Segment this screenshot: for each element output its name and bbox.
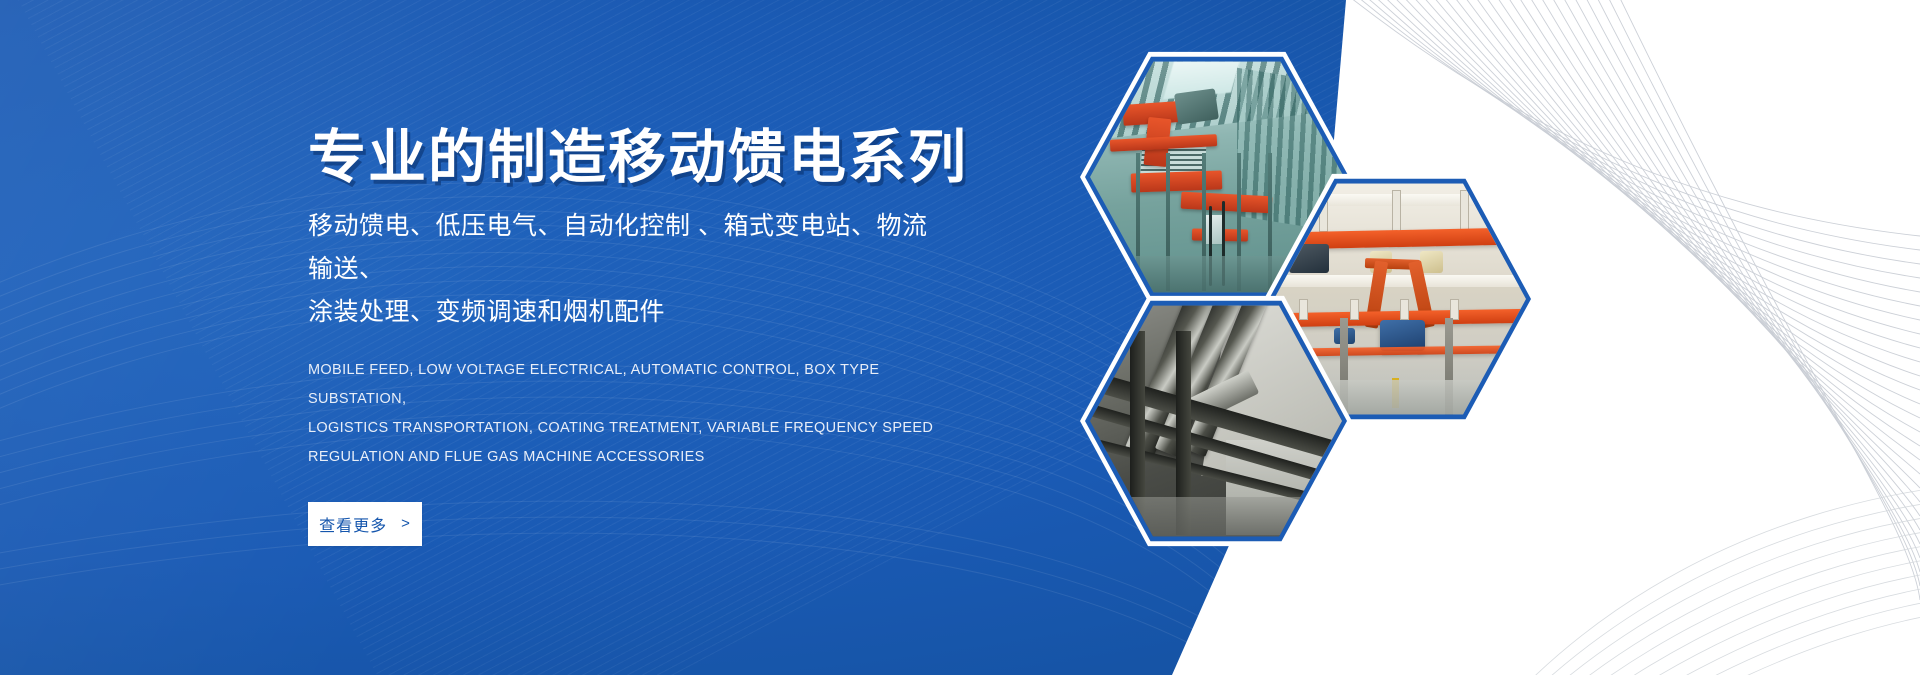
view-more-label: 查看更多 xyxy=(319,512,387,536)
hero-banner: 专业的制造移动馈电系列 移动馈电、低压电气、自动化控制 、箱式变电站、物流输送、… xyxy=(0,0,1920,675)
hexagon-photo-cluster xyxy=(1060,0,1700,675)
chevron-right-icon: > xyxy=(401,516,411,531)
subtitle-line-2: 涂装处理、变频调速和烟机配件 xyxy=(308,291,948,334)
english-line-3: REGULATION AND FLUE GAS MACHINE ACCESSOR… xyxy=(308,443,948,472)
photo-busbar-cable-tray xyxy=(1090,302,1342,540)
english-line-2: LOGISTICS TRANSPORTATION, COATING TREATM… xyxy=(308,414,948,443)
english-line-1: MOBILE FEED, LOW VOLTAGE ELECTRICAL, AUT… xyxy=(308,356,948,414)
banner-subtitle: 移动馈电、低压电气、自动化控制 、箱式变电站、物流输送、 涂装处理、变频调速和烟… xyxy=(308,205,948,334)
view-more-button[interactable]: 查看更多 > xyxy=(308,502,422,546)
hexagon-image-clip xyxy=(1090,302,1342,540)
banner-content: 专业的制造移动馈电系列 移动馈电、低压电气、自动化控制 、箱式变电站、物流输送、… xyxy=(308,126,948,546)
banner-english-description: MOBILE FEED, LOW VOLTAGE ELECTRICAL, AUT… xyxy=(308,356,948,472)
subtitle-line-1: 移动馈电、低压电气、自动化控制 、箱式变电站、物流输送、 xyxy=(308,205,948,291)
banner-title: 专业的制造移动馈电系列 xyxy=(308,126,948,191)
